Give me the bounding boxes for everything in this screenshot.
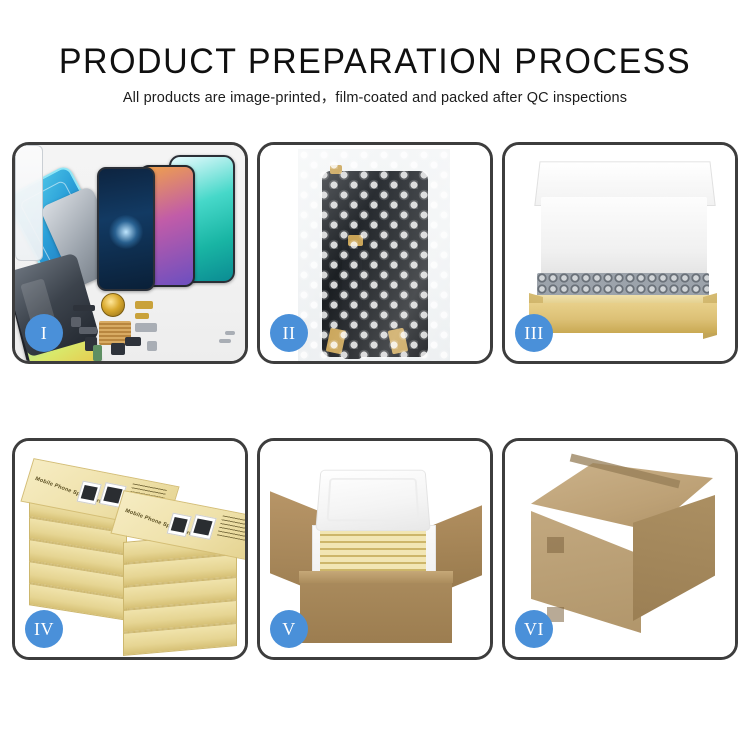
step-card-3: III <box>502 142 738 364</box>
small-part-image <box>73 305 95 311</box>
step-card-6: VI <box>502 438 738 660</box>
small-part-image <box>111 343 125 355</box>
small-part-image <box>225 331 235 335</box>
step-badge-1: I <box>25 314 63 352</box>
plastic-sheen <box>298 149 450 361</box>
small-part-image <box>79 327 97 334</box>
small-part-image <box>135 313 149 319</box>
step-badge-3: III <box>515 314 553 352</box>
bubble-wrap-bag-image <box>298 149 450 361</box>
header: PRODUCT PREPARATION PROCESS All products… <box>0 42 750 107</box>
small-part-image <box>135 301 153 309</box>
carton-tab-image <box>547 537 564 553</box>
step-badge-6: VI <box>515 610 553 648</box>
step-badge-5: V <box>270 610 308 648</box>
step-card-1: I <box>12 142 248 364</box>
small-part-image <box>93 345 102 361</box>
process-steps-grid: I II <box>12 142 738 682</box>
foam-sheet-image <box>541 197 707 275</box>
step-badge-4: IV <box>25 610 63 648</box>
step-card-4: Mobile Phone Spare Parts Mobile Phone Sp… <box>12 438 248 660</box>
step-card-5: V <box>257 438 493 660</box>
box-artwork-thumb <box>189 514 217 540</box>
small-part-image <box>71 317 81 327</box>
small-part-image <box>125 337 141 346</box>
step-badge-2: II <box>270 314 308 352</box>
box-front-image <box>529 303 717 333</box>
tempered-glass-image <box>15 145 43 261</box>
small-part-image <box>219 339 231 343</box>
page-title: PRODUCT PREPARATION PROCESS <box>11 42 739 82</box>
styrofoam-lid-image <box>315 470 430 531</box>
step-card-2: II <box>257 142 493 364</box>
phone-front-display-image <box>97 167 155 291</box>
box-spec-lines <box>217 514 245 541</box>
page-subtitle: All products are image-printed，film-coat… <box>0 89 750 107</box>
small-part-image <box>135 323 157 332</box>
speaker-coil-image <box>101 293 125 317</box>
small-part-image <box>147 341 157 351</box>
carton-body-image <box>300 581 452 643</box>
product-preparation-process-infographic: PRODUCT PREPARATION PROCESS All products… <box>0 0 750 750</box>
